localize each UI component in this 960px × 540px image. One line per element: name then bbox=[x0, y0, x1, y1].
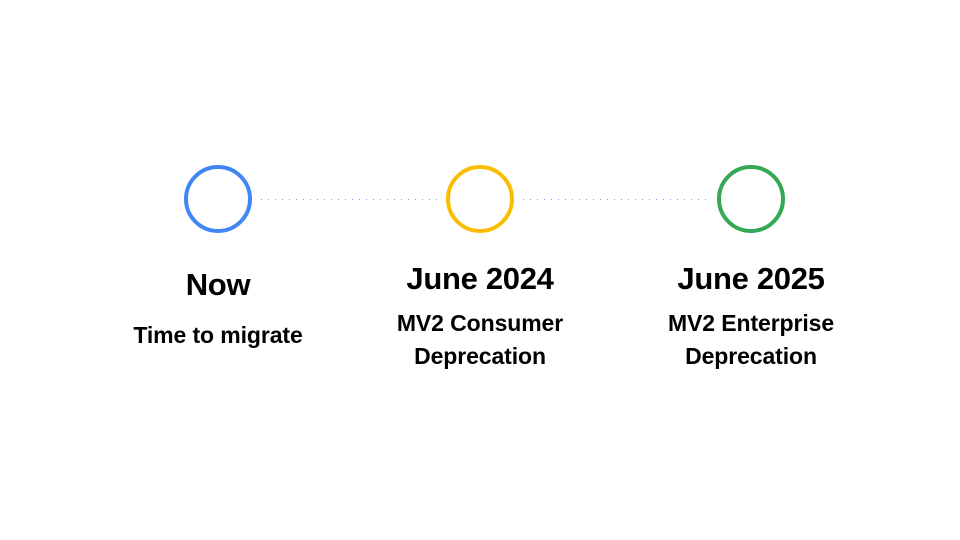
timeline-node-june-2025[interactable] bbox=[717, 165, 785, 233]
timeline-connector-now-to-june-2024 bbox=[258, 198, 440, 201]
timeline-subtitle-june-2025: MV2 EnterpriseDeprecation bbox=[581, 307, 921, 372]
timeline-node-june-2024[interactable] bbox=[446, 165, 514, 233]
timeline-subtitle-line: Deprecation bbox=[581, 340, 921, 373]
timeline-node-now[interactable] bbox=[184, 165, 252, 233]
timeline-subtitle-line: MV2 Enterprise bbox=[581, 307, 921, 340]
timeline-label-june-2025: June 2025 MV2 EnterpriseDeprecation bbox=[581, 262, 921, 373]
timeline-title-june-2025: June 2025 bbox=[581, 262, 921, 295]
timeline-connector-june-2024-to-june-2025 bbox=[520, 198, 711, 201]
timeline-diagram: Now Time to migrate June 2024 MV2 Consum… bbox=[0, 0, 960, 540]
